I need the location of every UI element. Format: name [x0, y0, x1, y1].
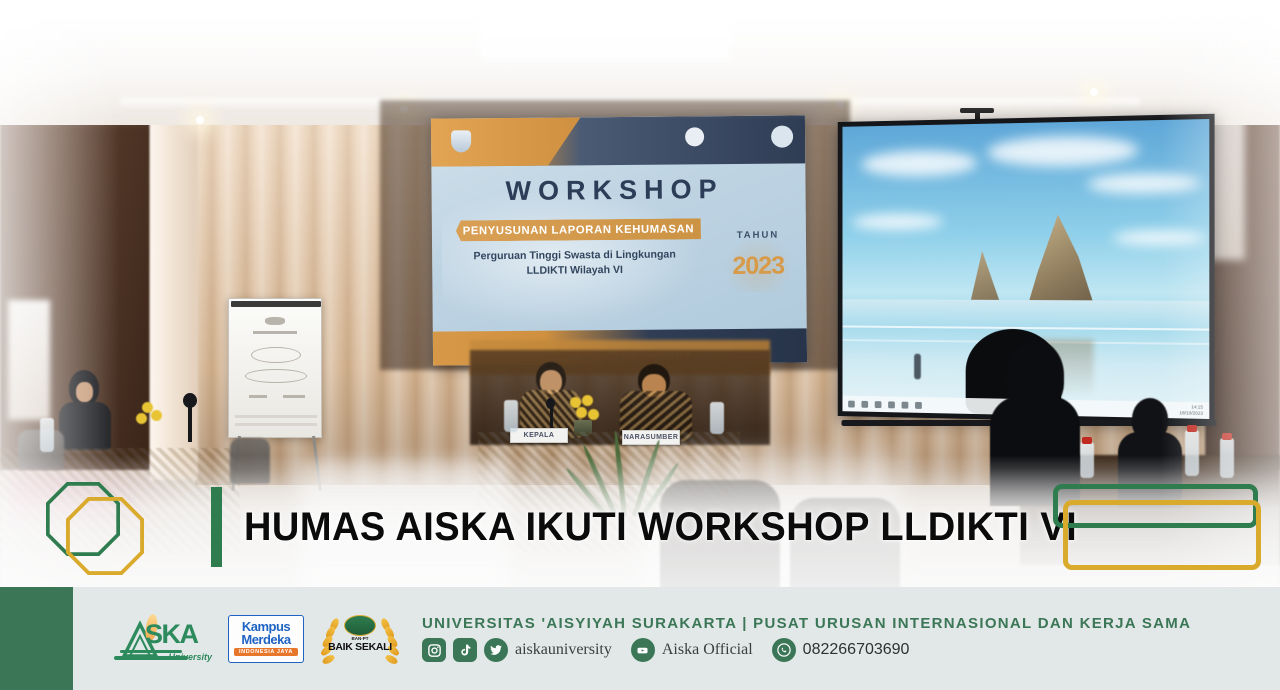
banner-year: 2023 — [720, 239, 796, 292]
footer-green-block — [0, 587, 73, 690]
tiktok-icon[interactable] — [453, 638, 477, 662]
microphone-stand — [188, 406, 192, 442]
rounded-rect-gold-decoration — [1063, 500, 1261, 570]
flower — [582, 395, 593, 406]
aiska-sub-wordmark: University — [168, 652, 212, 662]
cloud — [987, 135, 1138, 168]
banner-line-1: Perguruan Tinggi Swasta di Lingkungan — [432, 248, 717, 262]
app-icon[interactable] — [915, 401, 922, 408]
start-icon[interactable] — [848, 400, 855, 407]
aiska-logo: SKA University — [110, 612, 214, 666]
kampus-merdeka-tagline: INDONESIA JAYA — [234, 648, 298, 656]
beach-figure — [914, 354, 921, 380]
flipchart-note — [253, 331, 297, 334]
merdeka-logo-icon — [771, 125, 793, 147]
ban-pt-seal-icon — [344, 615, 376, 636]
cloud — [861, 150, 977, 177]
flipchart-clamp — [231, 301, 321, 307]
banner-line-2: LLDIKTI Wilayah VI — [432, 263, 717, 277]
banner-subtitle: PENYUSUNAN LAPORAN KEHUMASAN — [456, 218, 701, 241]
accreditation-logo: BAN-PT BAIK SEKALI — [318, 612, 402, 666]
screenshot-canvas: WORKSHOP PENYUSUNAN LAPORAN KEHUMASAN Pe… — [0, 0, 1280, 690]
title-accent-bar — [211, 487, 222, 567]
flipchart-note — [245, 369, 307, 383]
footer-content: SKA University Kampus Merdeka INDONESIA … — [110, 587, 1280, 690]
bottle-cap — [1082, 437, 1092, 444]
page-title: HUMAS AISKA IKUTI WORKSHOP LLDIKTI VI — [244, 498, 1077, 556]
water-bottle — [710, 402, 724, 434]
water-bottle — [504, 400, 518, 432]
flower — [588, 409, 599, 420]
footer-bar: SKA University Kampus Merdeka INDONESIA … — [0, 587, 1280, 690]
laurel-wreath-right-icon — [378, 616, 398, 664]
banner-title: WORKSHOP — [431, 173, 797, 207]
flower — [151, 410, 162, 421]
cloud — [852, 214, 943, 230]
kemdikbud-logo-icon — [685, 127, 704, 146]
lldikti-logo-icon — [451, 130, 471, 152]
youtube-handle: Aiska Official — [662, 641, 753, 659]
top-highlight-wash — [0, 0, 1280, 120]
speaker-narasumber — [620, 364, 692, 440]
flipchart-tray — [235, 415, 317, 418]
nameplate-kepala: KEPALA — [510, 428, 568, 443]
nameplate-label: KEPALA — [524, 432, 555, 439]
footer-text-block: UNIVERSITAS 'AISYIYAH SURAKARTA | PUSAT … — [422, 615, 1191, 662]
flipchart-note — [249, 395, 267, 398]
search-icon[interactable] — [861, 400, 868, 407]
flipchart-note — [251, 347, 301, 363]
social-handle-main: aiskauniversity — [515, 641, 612, 659]
whatsapp-icon[interactable] — [772, 638, 796, 662]
explorer-icon[interactable] — [888, 401, 895, 408]
twitter-icon[interactable] — [484, 638, 508, 662]
flipchart-note — [265, 317, 285, 325]
workshop-banner: WORKSHOP PENYUSUNAN LAPORAN KEHUMASAN Pe… — [431, 115, 807, 365]
aiska-wordmark: SKA — [145, 619, 198, 650]
flipchart — [228, 298, 322, 438]
organization-line: UNIVERSITAS 'AISYIYAH SURAKARTA | PUSAT … — [422, 615, 1191, 632]
social-row: aiskauniversity Aiska Official — [422, 638, 1191, 662]
taskview-icon[interactable] — [875, 401, 882, 408]
kampus-merdeka-line-2: Merdeka — [241, 633, 290, 646]
youtube-icon[interactable] — [631, 638, 655, 662]
browser-icon[interactable] — [902, 401, 909, 408]
accreditation-grade: BAIK SEKALI — [318, 641, 402, 653]
flower — [136, 413, 147, 424]
laurel-wreath-left-icon — [322, 616, 342, 664]
flipchart-tray — [235, 423, 317, 426]
banner-top-stripe — [431, 115, 805, 166]
kampus-merdeka-logo: Kampus Merdeka INDONESIA JAYA — [228, 615, 304, 663]
flower — [576, 407, 587, 418]
flipchart-note — [283, 395, 305, 398]
instagram-icon[interactable] — [422, 638, 446, 662]
whatsapp-number: 082266703690 — [803, 641, 910, 659]
